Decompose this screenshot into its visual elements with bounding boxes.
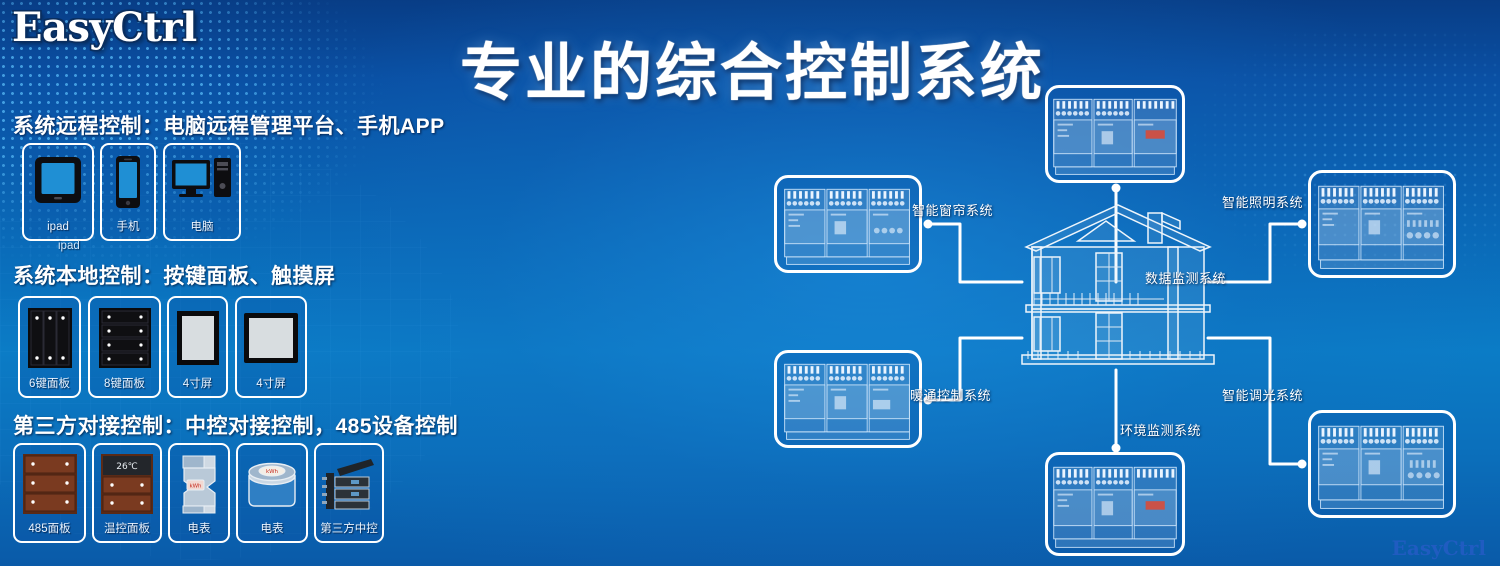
label-lighting-system: 智能照明系统	[1222, 192, 1303, 211]
device-card-ipad[interactable]: ipad	[22, 143, 94, 241]
device-card-label: ipad	[47, 222, 69, 240]
din-rail-controller-3module	[1311, 413, 1453, 515]
node-hvac-system[interactable]	[774, 350, 922, 448]
device-card-rs485-panel[interactable]: 485面板	[13, 443, 86, 543]
poster-canvas: EasyCtrl 专业的综合控制系统 系统远程控制：电脑远程管理平台、手机APP…	[0, 0, 1500, 566]
electric-meter-rail-icon: kWh	[170, 445, 228, 524]
electric-meter-round-icon: kWh	[238, 445, 306, 524]
label-dimming-system: 智能调光系统	[1222, 385, 1303, 404]
rs485-panel-icon	[15, 445, 84, 524]
section-heading-third-party-control: 第三方对接控制：中控对接控制，485设备控制	[13, 410, 458, 440]
device-card-label: 4寸屏	[183, 379, 212, 397]
label-data-monitoring-system: 数据监测系统	[1145, 268, 1226, 287]
system-topology-diagram: 智能窗帘系统 数据监测系统 智能照明系统 暖通控制系统 环境监测系统 智能调光系…	[760, 70, 1500, 566]
brand-logo: EasyCtrl	[12, 4, 197, 51]
thermostat-panel-icon: 26℃	[94, 445, 160, 524]
device-card-third-party-central[interactable]: 第三方中控	[314, 443, 384, 543]
device-card-thermostat-panel[interactable]: 26℃ 温控面板	[92, 443, 162, 543]
label-environment-monitoring-system: 环境监测系统	[1120, 420, 1201, 439]
node-curtain-system[interactable]	[774, 175, 922, 273]
desktop-computer-icon	[165, 145, 239, 222]
third-party-central-control-icon	[316, 445, 382, 524]
device-card-6key-panel[interactable]: 6键面板	[18, 296, 81, 398]
din-rail-controller-3module	[1048, 455, 1182, 553]
device-card-label: 电表	[188, 524, 211, 542]
six-key-panel-icon	[20, 298, 79, 379]
device-card-label: 手机	[117, 222, 140, 240]
device-card-label: 4寸屏	[256, 379, 285, 397]
device-card-label: 第三方中控	[320, 524, 378, 542]
device-card-label: 8键面板	[104, 379, 145, 397]
device-card-screen-4inch-b[interactable]: 4寸屏	[235, 296, 307, 398]
smartphone-icon	[102, 145, 154, 222]
din-rail-controller-3module	[1311, 173, 1453, 275]
device-card-label: 485面板	[28, 524, 70, 542]
device-card-desktop[interactable]: 电脑	[163, 143, 241, 241]
eight-key-panel-icon	[90, 298, 159, 379]
device-card-label: 温控面板	[104, 524, 150, 542]
four-inch-screen-icon	[169, 298, 226, 379]
stray-ipad-text: ipad	[58, 240, 80, 252]
section-heading-local-control: 系统本地控制：按键面板、触摸屏	[13, 260, 336, 290]
node-lighting-system[interactable]	[1308, 170, 1456, 278]
device-card-label: 电表	[261, 524, 284, 542]
section-heading-remote-control: 系统远程控制：电脑远程管理平台、手机APP	[13, 110, 445, 140]
svg-text:kWh: kWh	[189, 484, 202, 490]
thermostat-temperature-value: 26℃	[116, 462, 138, 472]
device-card-phone[interactable]: 手机	[100, 143, 156, 241]
tablet-icon	[24, 145, 92, 222]
node-environment-monitoring-system[interactable]	[1045, 452, 1185, 556]
label-curtain-system: 智能窗帘系统	[912, 200, 993, 219]
label-hvac-system: 暖通控制系统	[910, 385, 991, 404]
device-card-screen-4inch-a[interactable]: 4寸屏	[167, 296, 228, 398]
four-inch-screen-wide-icon	[237, 298, 305, 379]
node-dimming-system[interactable]	[1308, 410, 1456, 518]
din-rail-controller-3module	[777, 353, 919, 445]
svg-text:kWh: kWh	[266, 469, 279, 475]
device-card-meter-round[interactable]: kWh 电表	[236, 443, 308, 543]
device-card-label: 6键面板	[29, 379, 70, 397]
device-card-meter-rail[interactable]: kWh 电表	[168, 443, 230, 543]
watermark: EasyCtrl	[1392, 536, 1486, 560]
device-card-8key-panel[interactable]: 8键面板	[88, 296, 161, 398]
node-data-monitoring-system[interactable]	[1045, 85, 1185, 183]
din-rail-controller-3module	[777, 178, 919, 270]
din-rail-controller-3module	[1048, 88, 1182, 180]
device-card-label: 电脑	[191, 222, 214, 240]
